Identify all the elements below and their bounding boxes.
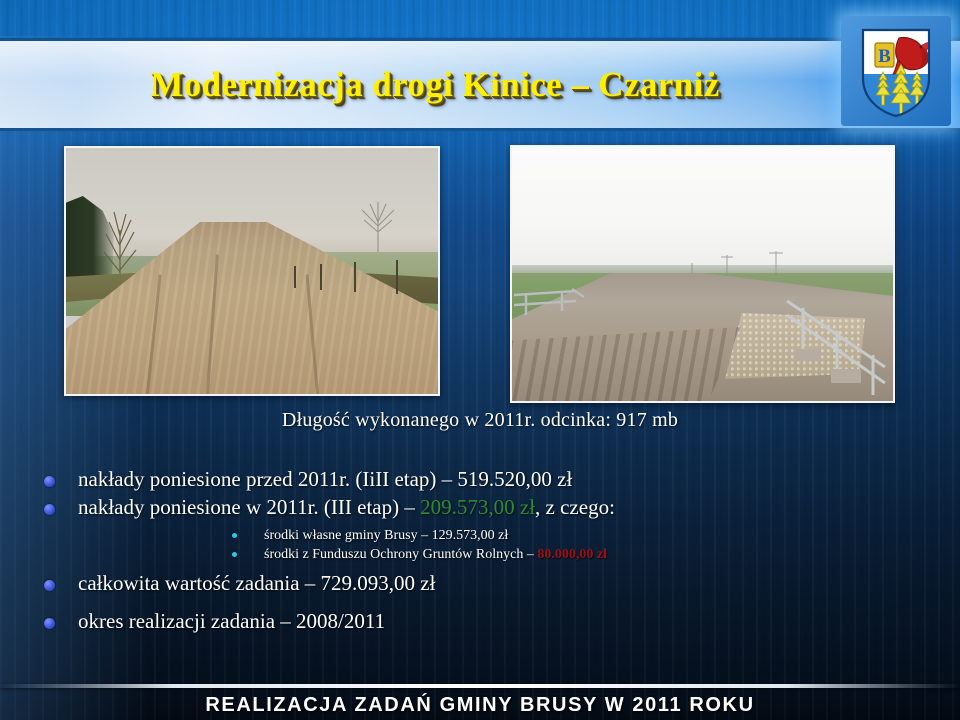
photo-road-after (510, 145, 895, 403)
bullet-dot-icon (44, 618, 55, 629)
list-item: nakłady poniesione w 2011r. (III etap) –… (0, 494, 960, 520)
amount-green: 209.573,00 zł (420, 495, 535, 519)
sub-bullet-text: środki własne gminy Brusy – 129.573,00 z… (264, 528, 508, 543)
list-item: środki z Funduszu Ochrony Gruntów Rolnyc… (232, 545, 960, 564)
photo-road-before (64, 146, 440, 396)
svg-text:B: B (878, 46, 891, 67)
amount-red: 80.000,00 zł (537, 547, 607, 562)
slide-root: Modernizacja drogi Kinice – Czarniż (0, 0, 960, 720)
sub-bullet-text: środki z Funduszu Ochrony Gruntów Rolnyc… (264, 547, 607, 562)
bullet-text: nakłady poniesione w 2011r. (III etap) –… (78, 494, 615, 520)
bullet-list: nakłady poniesione przed 2011r. (IiII et… (0, 466, 960, 636)
bullet-dot-icon (44, 580, 55, 591)
list-item: całkowita wartość zadania – 729.093,00 z… (0, 570, 960, 596)
sub-bullet-dot-icon (232, 552, 237, 557)
list-item: środki własne gminy Brusy – 129.573,00 z… (232, 526, 960, 545)
page-title: Modernizacja drogi Kinice – Czarniż (0, 38, 960, 131)
bullet-text: okres realizacji zadania – 2008/2011 (78, 608, 385, 634)
bullet-text: nakłady poniesione przed 2011r. (IiII et… (78, 466, 572, 492)
sub-bullet-list: środki własne gminy Brusy – 129.573,00 z… (0, 526, 960, 564)
list-item: nakłady poniesione przed 2011r. (IiII et… (0, 466, 960, 492)
bullet-dot-icon (44, 504, 55, 515)
sub-bullet-dot-icon (232, 533, 237, 538)
list-item: okres realizacji zadania – 2008/2011 (0, 608, 960, 634)
bullet-dot-icon (44, 476, 55, 487)
coat-of-arms-icon: B (841, 16, 951, 126)
footer-title: REALIZACJA ZADAŃ GMINY BRUSY W 2011 ROKU (0, 694, 960, 717)
footer-divider (0, 684, 960, 688)
photo-caption: Długość wykonanego w 2011r. odcinka: 917… (0, 409, 960, 432)
bullet-text: całkowita wartość zadania – 729.093,00 z… (78, 570, 435, 596)
